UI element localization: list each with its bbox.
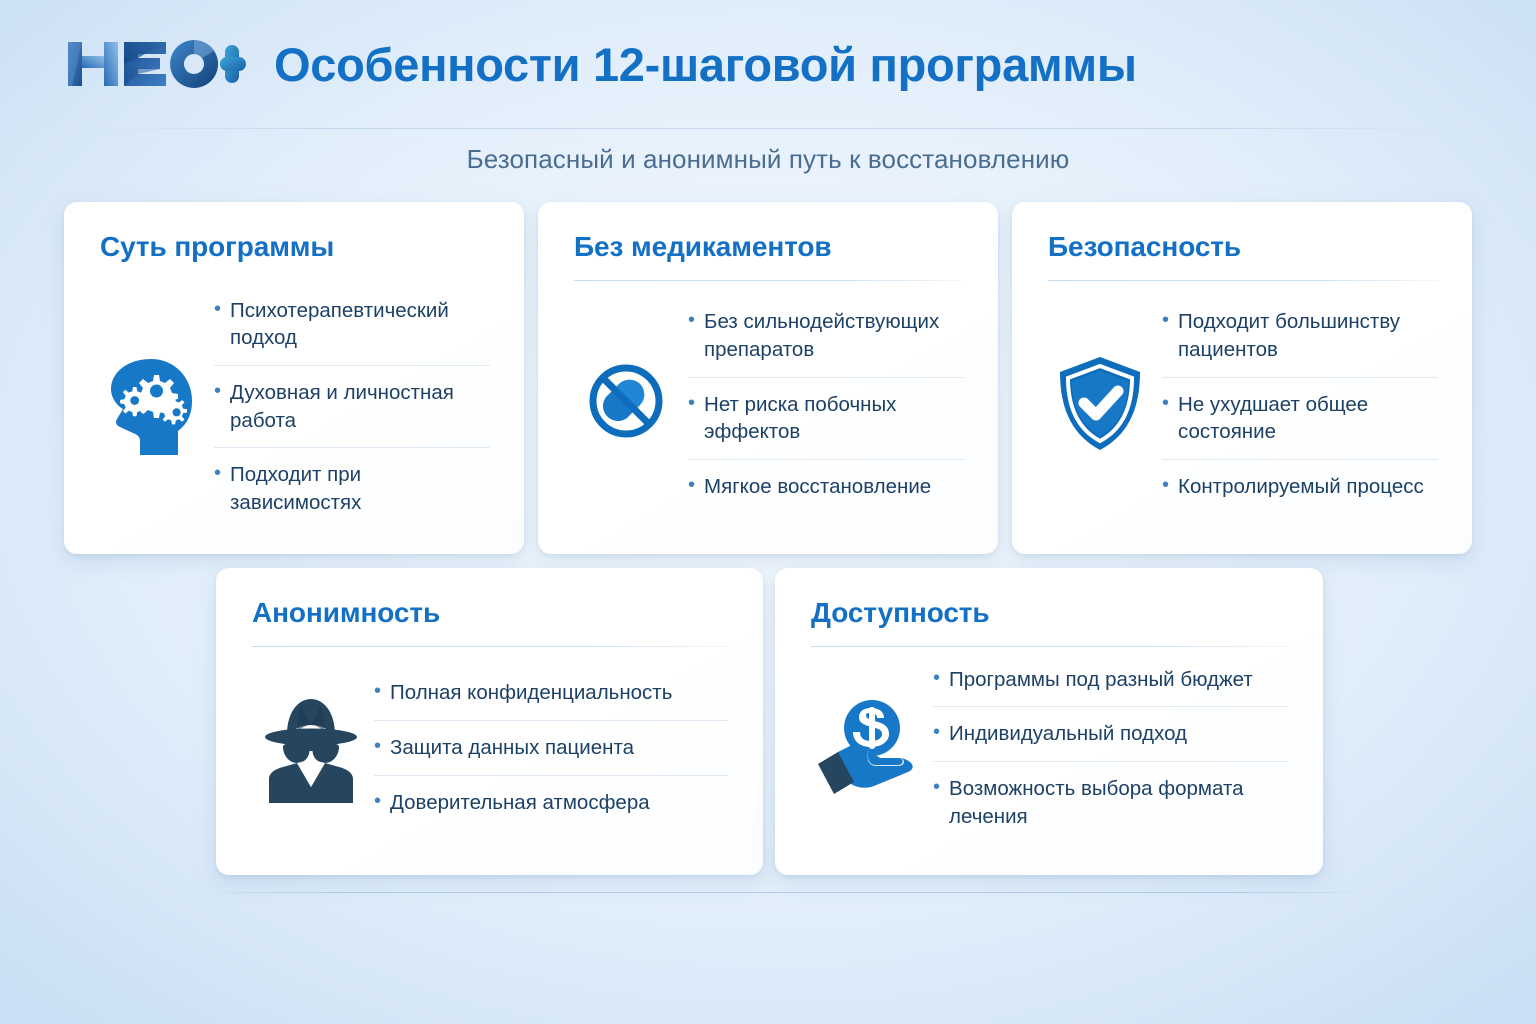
list-item: • Без сильнодействующих препаратов <box>688 295 964 377</box>
head-gears-icon <box>100 357 204 457</box>
list-item: • Программы под разный бюджет <box>933 653 1289 708</box>
card-body: • Полная конфиденциальность • Защита дан… <box>252 651 729 845</box>
bullet-dot-icon: • <box>1162 307 1169 334</box>
list-item: • Защита данных пациента <box>374 721 729 776</box>
header-divider <box>88 128 1448 129</box>
card-title-divider <box>811 646 1289 647</box>
bullet-dot-icon: • <box>933 665 940 692</box>
bullet-dot-icon: • <box>688 390 695 417</box>
bullet-dot-icon: • <box>374 788 381 815</box>
bullet-dot-icon: • <box>1162 472 1169 499</box>
list-item: • Контролируемый процесс <box>1162 460 1438 514</box>
card-body: • Подходит большинству пациентов • Не ух… <box>1048 285 1438 524</box>
bullet-dot-icon: • <box>688 307 695 334</box>
card-title: Безопасность <box>1048 232 1438 263</box>
bullet-dot-icon: • <box>374 678 381 705</box>
page-header: Особенности 12-шаговой программы <box>0 0 1536 128</box>
bullet-dot-icon: • <box>1162 390 1169 417</box>
shield-check-icon <box>1048 354 1152 454</box>
list-item-label: Возможность выбора формата лечения <box>949 775 1289 830</box>
bullet-list: • Психотерапевтический подход • Духовная… <box>214 284 490 530</box>
list-item-label: Полная конфиденциальность <box>390 679 729 707</box>
list-item-label: Доверительная атмосфера <box>390 789 729 817</box>
list-item-label: Психотерапевтический подход <box>230 297 490 352</box>
card-body: • Программы под разный бюджет • Индивиду… <box>811 651 1289 845</box>
card-title-divider <box>252 646 729 647</box>
card-title: Суть программы <box>100 232 490 263</box>
card-bez-medikamentov[interactable]: Без медикаментов • Без сильнодействующих… <box>538 202 998 554</box>
bullet-dot-icon: • <box>933 774 940 801</box>
bullet-dot-icon: • <box>214 378 221 405</box>
card-body: • Без сильнодействующих препаратов • Нет… <box>574 285 964 524</box>
incognito-spy-icon <box>252 693 370 803</box>
page-title: Особенности 12-шаговой программы <box>274 41 1137 88</box>
card-title-divider <box>1048 280 1438 281</box>
bullet-list: • Подходит большинству пациентов • Не ух… <box>1162 295 1438 513</box>
neo-plus-logo <box>66 34 246 94</box>
list-item-label: Нет риска побочных эффектов <box>704 391 964 446</box>
card-title: Анонимность <box>252 598 729 629</box>
bullet-dot-icon: • <box>214 460 221 487</box>
list-item-label: Духовная и личностная работа <box>230 379 490 434</box>
list-item-label: Без сильнодействующих препаратов <box>704 308 964 363</box>
list-item: • Индивидуальный подход <box>933 707 1289 762</box>
card-anonimnost[interactable]: Анонимность <box>216 568 763 875</box>
list-item-label: Подходит большинству пациентов <box>1178 308 1438 363</box>
list-item-label: Защита данных пациента <box>390 734 729 762</box>
card-row-top: Суть программы <box>64 202 1474 554</box>
bullet-dot-icon: • <box>933 719 940 746</box>
card-title: Доступность <box>811 598 1289 629</box>
bullet-dot-icon: • <box>688 472 695 499</box>
list-item: • Полная конфиденциальность <box>374 666 729 721</box>
list-item: • Мягкое восстановление <box>688 460 964 514</box>
list-item-label: Программы под разный бюджет <box>949 666 1289 694</box>
card-row-bottom: Анонимность <box>216 568 1323 875</box>
list-item: • Духовная и личностная работа <box>214 366 490 448</box>
list-item: • Подходит большинству пациентов <box>1162 295 1438 377</box>
footer-divider <box>218 892 1354 893</box>
no-pills-icon <box>574 356 678 452</box>
card-title-divider <box>574 280 964 281</box>
list-item: • Доверительная атмосфера <box>374 776 729 830</box>
list-item: • Психотерапевтический подход <box>214 284 490 366</box>
hand-coin-icon <box>811 696 929 800</box>
list-item: • Возможность выбора формата лечения <box>933 762 1289 843</box>
list-item: • Нет риска побочных эффектов <box>688 378 964 460</box>
list-item-label: Индивидуальный подход <box>949 720 1289 748</box>
list-item-label: Подходит при зависимостях <box>230 461 490 516</box>
card-bezopasnost[interactable]: Безопасность • Подходит большинству паци… <box>1012 202 1472 554</box>
card-sut-programmy[interactable]: Суть программы <box>64 202 524 554</box>
card-title: Без медикаментов <box>574 232 964 263</box>
bullet-list: • Без сильнодействующих препаратов • Нет… <box>688 295 964 513</box>
bullet-dot-icon: • <box>214 296 221 323</box>
list-item: • Подходит при зависимостях <box>214 448 490 529</box>
list-item-label: Контролируемый процесс <box>1178 473 1438 501</box>
bullet-list: • Программы под разный бюджет • Индивиду… <box>933 653 1289 844</box>
card-dostupnost[interactable]: Доступность <box>775 568 1323 875</box>
bullet-dot-icon: • <box>374 733 381 760</box>
list-item: • Не ухудшает общее состояние <box>1162 378 1438 460</box>
page-subtitle: Безопасный и анонимный путь к восстановл… <box>0 144 1536 175</box>
bullet-list: • Полная конфиденциальность • Защита дан… <box>374 666 729 829</box>
card-body: • Психотерапевтический подход • Духовная… <box>100 284 490 530</box>
list-item-label: Мягкое восстановление <box>704 473 964 501</box>
list-item-label: Не ухудшает общее состояние <box>1178 391 1438 446</box>
